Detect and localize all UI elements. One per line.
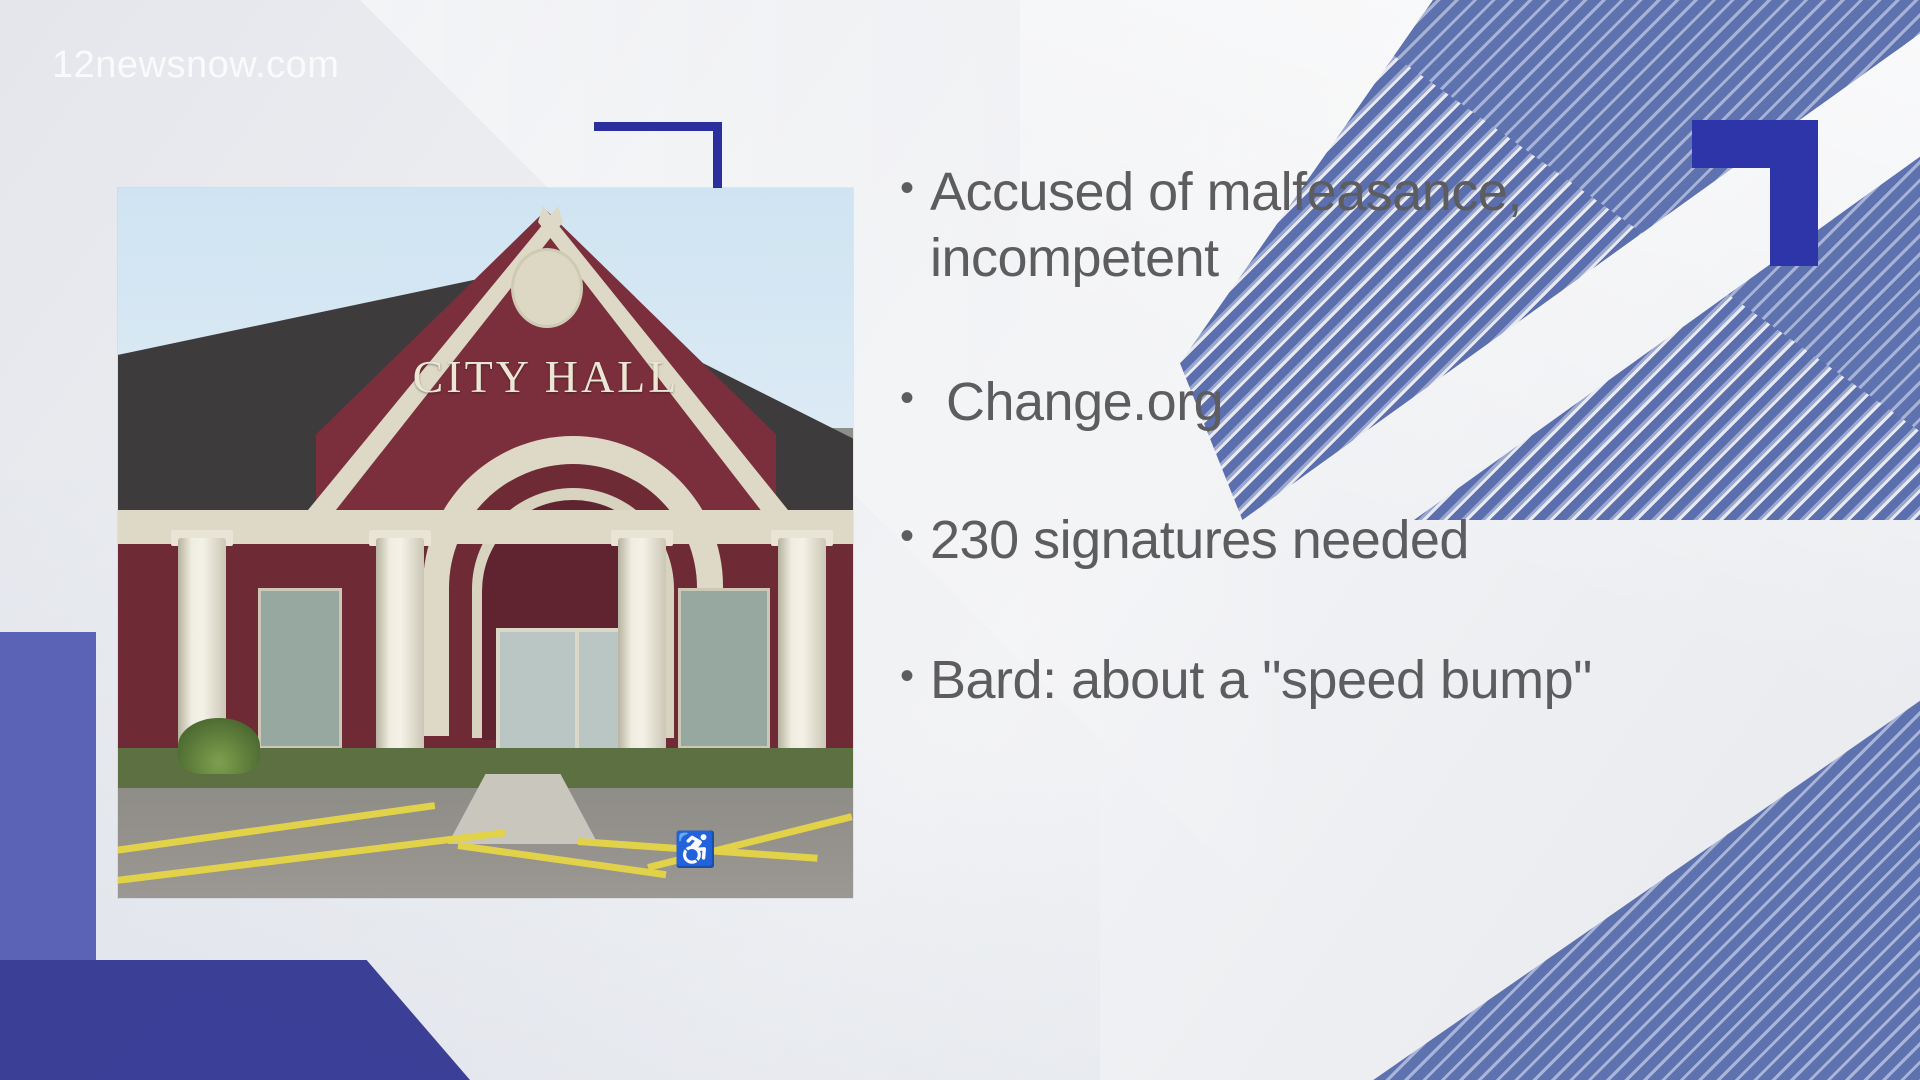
bullet-text-2: Change.org <box>930 370 1820 436</box>
bullet-text-1-line-2: incompetent <box>930 228 1219 288</box>
bullet-item-3: • 230 signatures needed <box>900 508 1820 574</box>
photo-gable-oval-vent <box>511 248 583 328</box>
city-hall-photo: CITY HALL ♿ <box>118 188 853 898</box>
photo-window-right <box>678 588 770 749</box>
photo-bracket-horizontal-bar <box>594 122 722 131</box>
bullet-text-4: Bard: about a "speed bump" <box>930 648 1820 714</box>
photo-shrub <box>178 718 260 774</box>
bullet-marker-icon: • <box>900 160 930 217</box>
bullet-marker-icon: • <box>900 370 930 427</box>
photo-column <box>778 538 826 778</box>
bullet-marker-icon: • <box>900 648 930 705</box>
station-watermark: 12newsnow.com <box>52 44 339 87</box>
photo-window-left <box>258 588 342 749</box>
photo-city-hall-sign: CITY HALL <box>316 350 776 403</box>
bullet-text-3: 230 signatures needed <box>930 508 1820 574</box>
bullet-item-1: • Accused of malfeasance, incompetent <box>900 160 1820 292</box>
photo-column <box>618 538 666 778</box>
bullet-list: • Accused of malfeasance, incompetent • … <box>900 160 1820 713</box>
bullet-item-4: • Bard: about a "speed bump" <box>900 648 1820 714</box>
bullet-marker-icon: • <box>900 508 930 565</box>
photo-column <box>376 538 424 778</box>
bullet-item-2: • Change.org <box>900 370 1820 436</box>
broadcast-graphic: 12newsnow.com CITY HALL <box>0 0 1920 1080</box>
bullet-text-1-line-1: Accused of malfeasance, <box>930 162 1522 222</box>
bullet-text-1: Accused of malfeasance, incompetent <box>930 160 1820 292</box>
photo-accessible-parking-icon: ♿ <box>674 830 734 870</box>
